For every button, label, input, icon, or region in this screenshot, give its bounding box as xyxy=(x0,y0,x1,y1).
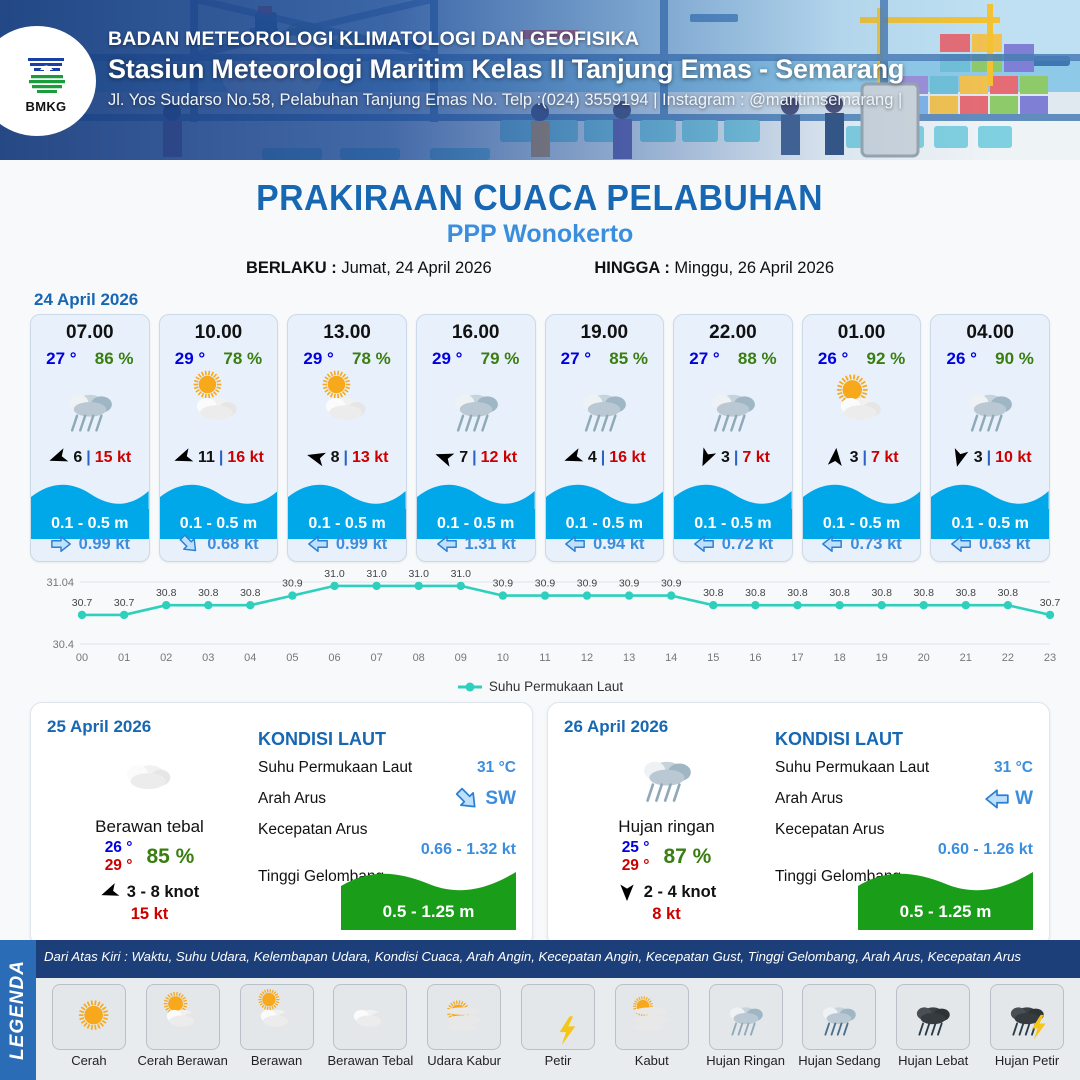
legend-item-label: Berawan Tebal xyxy=(323,1053,417,1068)
card-weather-icon xyxy=(674,371,792,445)
svg-text:30.9: 30.9 xyxy=(535,578,556,590)
svg-text:05: 05 xyxy=(286,652,298,664)
current-direction-arrow-icon xyxy=(50,533,72,555)
current-direction-value: SW xyxy=(454,786,516,812)
agency-name: BADAN METEOROLOGI KLIMATOLOGI DAN GEOFIS… xyxy=(108,28,1070,51)
legend-icon-strip: Cerah Cerah Berawan Berawan Berawan Teba… xyxy=(36,978,1080,1080)
card-time: 07.00 xyxy=(31,322,149,344)
current-direction-arrow-icon xyxy=(564,533,586,555)
wave-height-badge: 0.5 - 1.25 m xyxy=(858,868,1033,930)
svg-text:30.9: 30.9 xyxy=(661,578,682,590)
legend-tab-label: LEGENDA xyxy=(7,960,29,1060)
card-wave-zone: 0.1 - 0.5 m 0.99 kt xyxy=(288,479,406,561)
hourly-card: 16.00 29 ° 79 % 7 | 12 kt 0.1 - 0.5 m 1.… xyxy=(416,314,536,562)
daily-temps: 25 ° 29 ° 87 % xyxy=(564,839,769,875)
daily-temps: 26 ° 29 ° 85 % xyxy=(47,839,252,875)
card-temp-humidity: 27 ° 86 % xyxy=(31,349,149,369)
current-speed-row: Kecepatan Arus xyxy=(258,821,516,839)
legend-item-label: Hujan Lebat xyxy=(886,1053,980,1068)
legend-item: Berawan xyxy=(230,984,324,1068)
page-title: PRAKIRAAN CUACA PELABUHAN xyxy=(257,177,824,219)
current-direction-row: Arah Arus W xyxy=(775,786,1033,812)
card-temperature: 27 ° xyxy=(46,349,76,369)
svg-text:13: 13 xyxy=(623,652,635,664)
card-humidity: 90 % xyxy=(995,349,1034,369)
weather-icon-hujan-lebat xyxy=(907,990,959,1045)
sst-chart-canvas: 31.0430.430.70030.70130.80230.80330.8043… xyxy=(20,572,1060,677)
legend-item-label: Cerah xyxy=(42,1053,136,1068)
card-temperature: 27 ° xyxy=(561,349,591,369)
legend-item: Udara Kabur xyxy=(417,984,511,1068)
svg-text:30.8: 30.8 xyxy=(998,587,1019,599)
hourly-card: 04.00 26 ° 90 % 3 | 10 kt 0.1 - 0.5 m 0.… xyxy=(930,314,1050,562)
daily-wind-row: 3 - 8 knot xyxy=(47,882,252,902)
svg-text:30.8: 30.8 xyxy=(240,587,261,599)
weather-icon-hujan-petir xyxy=(1001,990,1053,1045)
hourly-card: 13.00 29 ° 78 % 8 | 13 kt 0.1 - 0.5 m 0.… xyxy=(287,314,407,562)
weather-icon-berawan xyxy=(251,990,303,1045)
weather-icon-berawan-tebal xyxy=(113,737,187,815)
card-current-row: 0.68 kt xyxy=(160,533,278,555)
wave-shape-icon xyxy=(803,479,921,513)
valid-until-value: Minggu, 26 April 2026 xyxy=(674,259,834,277)
legend-item: Hujan Sedang xyxy=(793,984,887,1068)
weather-icon-petir xyxy=(532,990,584,1045)
weather-icon-kabut xyxy=(626,990,678,1045)
hourly-card: 19.00 27 ° 85 % 4 | 16 kt 0.1 - 0.5 m 0.… xyxy=(545,314,665,562)
legend-item-label: Petir xyxy=(511,1053,605,1068)
card-current-speed: 0.94 kt xyxy=(593,535,644,554)
card-current-speed: 0.73 kt xyxy=(850,535,901,554)
card-wind-speed: 3 xyxy=(721,449,730,467)
current-direction-arrow-icon xyxy=(174,528,205,559)
current-speed-row: Kecepatan Arus xyxy=(775,821,1033,839)
card-current-row: 1.31 kt xyxy=(417,533,535,555)
valid-from-label: BERLAKU : xyxy=(246,259,337,277)
weather-icon-hujan-ringan xyxy=(570,372,638,443)
svg-text:02: 02 xyxy=(160,652,172,664)
current-direction-arrow-icon xyxy=(307,533,329,555)
wind-direction-arrow-icon xyxy=(170,444,197,471)
sst-label: Suhu Permukaan Laut xyxy=(775,759,929,777)
wind-separator: | xyxy=(344,449,348,467)
card-temp-humidity: 29 ° 78 % xyxy=(160,349,278,369)
valid-from-value: Jumat, 24 April 2026 xyxy=(341,259,491,277)
svg-text:22: 22 xyxy=(1002,652,1014,664)
card-wave-zone: 0.1 - 0.5 m 0.99 kt xyxy=(31,479,149,561)
daily-temp-col: 25 ° 29 ° xyxy=(622,839,650,875)
card-current-row: 0.63 kt xyxy=(931,533,1049,555)
weather-icon-hujan-ringan xyxy=(720,990,772,1045)
weather-icon-hujan-sedang xyxy=(813,990,865,1045)
svg-text:10: 10 xyxy=(497,652,509,664)
daily-wind-range: 2 - 4 knot xyxy=(644,883,716,902)
wind-direction-arrow-icon xyxy=(97,879,123,905)
card-humidity: 92 % xyxy=(867,349,906,369)
card-wind-speed: 3 xyxy=(974,449,983,467)
station-name: Stasiun Meteorologi Maritim Kelas II Tan… xyxy=(108,54,1070,85)
card-weather-icon xyxy=(288,371,406,445)
card-wave-height: 0.1 - 0.5 m xyxy=(952,515,1029,533)
card-wind-row: 3 | 10 kt xyxy=(931,447,1049,468)
card-current-row: 0.73 kt xyxy=(803,533,921,555)
sst-value: 31 °C xyxy=(477,759,516,777)
sea-conditions-title: KONDISI LAUT xyxy=(258,729,516,750)
card-time: 22.00 xyxy=(674,322,792,344)
card-humidity: 78 % xyxy=(352,349,391,369)
card-temperature: 26 ° xyxy=(818,349,848,369)
legend-icon-box xyxy=(896,984,970,1050)
svg-text:30.8: 30.8 xyxy=(198,587,219,599)
legend-item: Cerah Berawan xyxy=(136,984,230,1068)
legend-item-label: Udara Kabur xyxy=(417,1053,511,1068)
weather-icon-cerah-berawan xyxy=(157,990,209,1045)
weather-icon-hujan-ringan xyxy=(56,372,124,443)
legend-tab: LEGENDA xyxy=(0,940,36,1080)
wind-direction-arrow-icon xyxy=(617,882,637,902)
card-wind-row: 4 | 16 kt xyxy=(546,447,664,468)
legend-icon-box xyxy=(990,984,1064,1050)
legend-icon-box xyxy=(615,984,689,1050)
daily-wind-row: 2 - 4 knot xyxy=(564,882,769,902)
card-wind-speed: 3 xyxy=(850,449,859,467)
valid-from-group: BERLAKU : Jumat, 24 April 2026 xyxy=(246,259,492,278)
wind-direction-arrow-icon xyxy=(692,444,720,472)
svg-text:31.0: 31.0 xyxy=(408,568,429,580)
card-gust: 16 kt xyxy=(609,449,645,467)
svg-text:30.9: 30.9 xyxy=(282,578,303,590)
legend-footer: LEGENDA Dari Atas Kiri : Waktu, Suhu Uda… xyxy=(0,940,1080,1080)
legend-marker-icon xyxy=(457,681,483,693)
weather-icon-hujan-ringan xyxy=(956,372,1024,443)
card-time: 13.00 xyxy=(288,322,406,344)
current-direction-abbr: W xyxy=(1015,788,1033,810)
wind-separator: | xyxy=(219,449,223,467)
weather-icon-berawan xyxy=(313,372,381,443)
card-wave-zone: 0.1 - 0.5 m 0.63 kt xyxy=(931,479,1049,561)
svg-text:01: 01 xyxy=(118,652,130,664)
legend-icon-box xyxy=(709,984,783,1050)
card-weather-icon xyxy=(546,371,664,445)
daily-forecast-panel: 25 April 2026 Berawan tebal 26 ° 29 ° 85… xyxy=(30,702,533,947)
svg-text:30.7: 30.7 xyxy=(1040,597,1061,609)
current-direction-label: Arah Arus xyxy=(258,790,326,808)
current-direction-arrow-icon xyxy=(950,533,972,555)
card-wind-speed: 8 xyxy=(331,449,340,467)
current-direction-value: W xyxy=(984,786,1033,812)
hourly-card: 10.00 29 ° 78 % 11 | 16 kt 0.1 - 0.5 m 0… xyxy=(159,314,279,562)
weather-icon-cerah xyxy=(63,990,115,1045)
hourly-date-label: 24 April 2026 xyxy=(34,290,1080,310)
wind-separator: | xyxy=(86,449,90,467)
valid-until-label: HINGGA : xyxy=(594,259,669,277)
wind-direction-arrow-icon xyxy=(303,445,329,471)
daily-sea-conditions: KONDISI LAUT Suhu Permukaan Laut 31 °C A… xyxy=(769,717,1033,932)
card-current-speed: 0.72 kt xyxy=(722,535,773,554)
svg-text:30.8: 30.8 xyxy=(913,587,934,599)
card-gust: 10 kt xyxy=(995,449,1031,467)
hourly-forecast-row: 07.00 27 ° 86 % 6 | 15 kt 0.1 - 0.5 m 0.… xyxy=(0,314,1080,562)
svg-text:19: 19 xyxy=(876,652,888,664)
current-direction-row: Arah Arus SW xyxy=(258,786,516,812)
card-time: 19.00 xyxy=(546,322,664,344)
bmkg-logo-mark xyxy=(20,48,72,98)
daily-forecast-panel: 26 April 2026 Hujan ringan 25 ° 29 ° 87 … xyxy=(547,702,1050,947)
legend-item-label: Hujan Petir xyxy=(980,1053,1074,1068)
card-gust: 13 kt xyxy=(352,449,388,467)
weather-icon-berawan-tebal xyxy=(344,990,396,1045)
card-wind-row: 3 | 7 kt xyxy=(803,447,921,468)
daily-humidity: 87 % xyxy=(663,845,711,869)
svg-text:30.8: 30.8 xyxy=(703,587,724,599)
wave-shape-icon xyxy=(160,479,278,513)
card-temperature: 26 ° xyxy=(946,349,976,369)
card-wind-speed: 6 xyxy=(73,449,82,467)
svg-text:30.8: 30.8 xyxy=(871,587,892,599)
card-current-row: 0.99 kt xyxy=(288,533,406,555)
weather-icon-berawan xyxy=(184,372,252,443)
svg-text:04: 04 xyxy=(244,652,256,664)
daily-condition: Berawan tebal xyxy=(47,817,252,837)
daily-wind-range: 3 - 8 knot xyxy=(127,883,199,902)
card-current-speed: 1.31 kt xyxy=(465,535,516,554)
card-weather-icon xyxy=(160,371,278,445)
legend-item: Cerah xyxy=(42,984,136,1068)
weather-icon-cerah-berawan xyxy=(828,372,896,443)
weather-icon-hujan-ringan xyxy=(699,372,767,443)
daily-condition: Hujan ringan xyxy=(564,817,769,837)
svg-text:16: 16 xyxy=(749,652,761,664)
card-wind-speed: 4 xyxy=(588,449,597,467)
current-direction-arrow-icon xyxy=(693,533,715,555)
wind-direction-arrow-icon xyxy=(824,446,847,469)
wind-direction-arrow-icon xyxy=(560,444,587,471)
card-weather-icon xyxy=(931,371,1049,445)
card-wave-height: 0.1 - 0.5 m xyxy=(308,515,385,533)
card-humidity: 78 % xyxy=(223,349,262,369)
svg-text:12: 12 xyxy=(581,652,593,664)
card-current-speed: 0.99 kt xyxy=(336,535,387,554)
card-wave-height: 0.1 - 0.5 m xyxy=(437,515,514,533)
legend-item: Petir xyxy=(511,984,605,1068)
svg-text:30.9: 30.9 xyxy=(577,578,598,590)
sst-legend-label: Suhu Permukaan Laut xyxy=(489,679,623,694)
card-weather-icon xyxy=(417,371,535,445)
card-current-speed: 0.99 kt xyxy=(79,535,130,554)
current-direction-arrow-icon xyxy=(436,533,458,555)
hourly-card: 22.00 27 ° 88 % 3 | 7 kt 0.1 - 0.5 m 0.7… xyxy=(673,314,793,562)
card-wave-height: 0.1 - 0.5 m xyxy=(51,515,128,533)
wind-separator: | xyxy=(862,449,866,467)
card-wind-row: 8 | 13 kt xyxy=(288,447,406,468)
wave-shape-icon xyxy=(31,479,149,513)
current-direction-arrow-icon xyxy=(449,781,486,818)
legend-note: Dari Atas Kiri : Waktu, Suhu Udara, Kele… xyxy=(44,949,1072,964)
daily-gust: 8 kt xyxy=(564,905,769,924)
svg-text:30.7: 30.7 xyxy=(72,597,93,609)
legend-item-label: Kabut xyxy=(605,1053,699,1068)
current-speed-label: Kecepatan Arus xyxy=(775,821,884,839)
current-direction-abbr: SW xyxy=(485,788,516,810)
card-gust: 15 kt xyxy=(95,449,131,467)
wave-shape-icon xyxy=(931,479,1049,513)
card-humidity: 86 % xyxy=(95,349,134,369)
svg-text:31.0: 31.0 xyxy=(451,568,472,580)
card-current-speed: 0.63 kt xyxy=(979,535,1030,554)
legend-item: Berawan Tebal xyxy=(323,984,417,1068)
header-text-block: BADAN METEOROLOGI KLIMATOLOGI DAN GEOFIS… xyxy=(108,28,1070,110)
svg-text:06: 06 xyxy=(328,652,340,664)
card-humidity: 79 % xyxy=(481,349,520,369)
svg-text:30.7: 30.7 xyxy=(114,597,135,609)
wave-shape-icon xyxy=(288,479,406,513)
card-gust: 16 kt xyxy=(227,449,263,467)
wave-shape-icon xyxy=(546,479,664,513)
svg-text:17: 17 xyxy=(791,652,803,664)
svg-text:30.9: 30.9 xyxy=(493,578,514,590)
legend-item: Hujan Lebat xyxy=(886,984,980,1068)
card-gust: 7 kt xyxy=(871,449,899,467)
legend-icon-box xyxy=(240,984,314,1050)
sst-row: Suhu Permukaan Laut 31 °C xyxy=(775,759,1033,777)
current-direction-label: Arah Arus xyxy=(775,790,843,808)
card-wave-zone: 0.1 - 0.5 m 0.72 kt xyxy=(674,479,792,561)
svg-text:30.8: 30.8 xyxy=(829,587,850,599)
legend-item-label: Cerah Berawan xyxy=(136,1053,230,1068)
sst-value: 31 °C xyxy=(994,759,1033,777)
card-gust: 12 kt xyxy=(481,449,517,467)
svg-text:00: 00 xyxy=(76,652,88,664)
legend-item: Kabut xyxy=(605,984,699,1068)
wind-separator: | xyxy=(601,449,605,467)
current-speed-value: 0.60 - 1.26 kt xyxy=(775,841,1033,859)
svg-text:11: 11 xyxy=(539,652,550,664)
card-wind-speed: 11 xyxy=(198,449,215,467)
valid-until-group: HINGGA : Minggu, 26 April 2026 xyxy=(594,259,834,278)
daily-left: 26 April 2026 Hujan ringan 25 ° 29 ° 87 … xyxy=(564,717,769,932)
card-wave-zone: 0.1 - 0.5 m 1.31 kt xyxy=(417,479,535,561)
svg-text:30.9: 30.9 xyxy=(619,578,640,590)
current-speed-value: 0.66 - 1.32 kt xyxy=(258,841,516,859)
legend-icon-box xyxy=(802,984,876,1050)
card-temp-humidity: 27 ° 85 % xyxy=(546,349,664,369)
wind-separator: | xyxy=(987,449,991,467)
sst-label: Suhu Permukaan Laut xyxy=(258,759,412,777)
legend-item: Hujan Ringan xyxy=(699,984,793,1068)
wind-separator: | xyxy=(734,449,738,467)
card-wind-row: 11 | 16 kt xyxy=(160,447,278,468)
title-block: PRAKIRAAN CUACA PELABUHAN PPP Wonokerto … xyxy=(0,177,1080,278)
card-temperature: 29 ° xyxy=(303,349,333,369)
current-direction-arrow-icon xyxy=(821,533,843,555)
wind-direction-arrow-icon xyxy=(946,445,972,471)
daily-weather-icon xyxy=(564,741,769,811)
svg-text:30.8: 30.8 xyxy=(787,587,808,599)
legend-icon-box xyxy=(521,984,595,1050)
card-wind-row: 6 | 15 kt xyxy=(31,447,149,468)
card-time: 10.00 xyxy=(160,322,278,344)
wave-height-badge: 0.5 - 1.25 m xyxy=(341,868,516,930)
wind-separator: | xyxy=(472,449,476,467)
svg-text:08: 08 xyxy=(413,652,425,664)
daily-date: 26 April 2026 xyxy=(564,717,769,737)
card-temp-humidity: 27 ° 88 % xyxy=(674,349,792,369)
daily-temp-col: 26 ° 29 ° xyxy=(105,839,133,875)
daily-sea-conditions: KONDISI LAUT Suhu Permukaan Laut 31 °C A… xyxy=(252,717,516,932)
sst-chart-legend: Suhu Permukaan Laut xyxy=(0,679,1080,694)
card-wave-height: 0.1 - 0.5 m xyxy=(823,515,900,533)
sst-row: Suhu Permukaan Laut 31 °C xyxy=(258,759,516,777)
svg-text:21: 21 xyxy=(960,652,972,664)
legend-item-label: Hujan Ringan xyxy=(699,1053,793,1068)
weather-icon-hujan-ringan xyxy=(442,372,510,443)
card-wave-zone: 0.1 - 0.5 m 0.68 kt xyxy=(160,479,278,561)
legend-item-label: Hujan Sedang xyxy=(793,1053,887,1068)
weather-icon-hujan-ringan xyxy=(630,737,704,815)
wave-height-value: 0.5 - 1.25 m xyxy=(341,902,516,922)
daily-gust: 15 kt xyxy=(47,905,252,924)
svg-text:31.0: 31.0 xyxy=(366,568,387,580)
svg-text:15: 15 xyxy=(707,652,719,664)
legend-icon-box xyxy=(52,984,126,1050)
legend-item: Hujan Petir xyxy=(980,984,1074,1068)
wind-direction-arrow-icon xyxy=(431,444,458,471)
card-wind-row: 3 | 7 kt xyxy=(674,447,792,468)
wave-height-value: 0.5 - 1.25 m xyxy=(858,902,1033,922)
legend-icon-box xyxy=(333,984,407,1050)
card-humidity: 85 % xyxy=(609,349,648,369)
svg-text:09: 09 xyxy=(455,652,467,664)
wave-shape-icon xyxy=(674,479,792,513)
daily-humidity: 85 % xyxy=(146,845,194,869)
legend-item-label: Berawan xyxy=(230,1053,324,1068)
hourly-card: 01.00 26 ° 92 % 3 | 7 kt 0.1 - 0.5 m 0.7… xyxy=(802,314,922,562)
current-speed-label: Kecepatan Arus xyxy=(258,821,367,839)
wind-direction-arrow-icon xyxy=(45,444,72,471)
svg-text:07: 07 xyxy=(370,652,382,664)
card-current-row: 0.72 kt xyxy=(674,533,792,555)
svg-text:30.8: 30.8 xyxy=(745,587,766,599)
card-temperature: 29 ° xyxy=(432,349,462,369)
card-weather-icon xyxy=(31,371,149,445)
card-wave-height: 0.1 - 0.5 m xyxy=(694,515,771,533)
contact-info: Jl. Yos Sudarso No.58, Pelabuhan Tanjung… xyxy=(108,91,1070,110)
card-humidity: 88 % xyxy=(738,349,777,369)
svg-text:23: 23 xyxy=(1044,652,1056,664)
legend-icon-box xyxy=(146,984,220,1050)
card-temp-humidity: 26 ° 90 % xyxy=(931,349,1049,369)
card-current-row: 0.99 kt xyxy=(31,533,149,555)
svg-text:20: 20 xyxy=(918,652,930,664)
card-wave-zone: 0.1 - 0.5 m 0.94 kt xyxy=(546,479,664,561)
daily-weather-icon xyxy=(47,741,252,811)
card-temp-humidity: 29 ° 78 % xyxy=(288,349,406,369)
daily-temp-min: 25 ° xyxy=(622,839,650,856)
card-gust: 7 kt xyxy=(742,449,770,467)
card-wind-row: 7 | 12 kt xyxy=(417,447,535,468)
page-subtitle: PPP Wonokerto xyxy=(0,220,1080,249)
hourly-card: 07.00 27 ° 86 % 6 | 15 kt 0.1 - 0.5 m 0.… xyxy=(30,314,150,562)
wave-shape-icon xyxy=(417,479,535,513)
svg-text:30.8: 30.8 xyxy=(156,587,177,599)
svg-text:30.8: 30.8 xyxy=(956,587,977,599)
sea-conditions-title: KONDISI LAUT xyxy=(775,729,1033,750)
card-current-speed: 0.68 kt xyxy=(207,535,258,554)
card-wave-zone: 0.1 - 0.5 m 0.73 kt xyxy=(803,479,921,561)
weather-icon-udara-kabur xyxy=(438,990,490,1045)
svg-text:14: 14 xyxy=(665,652,677,664)
svg-text:03: 03 xyxy=(202,652,214,664)
